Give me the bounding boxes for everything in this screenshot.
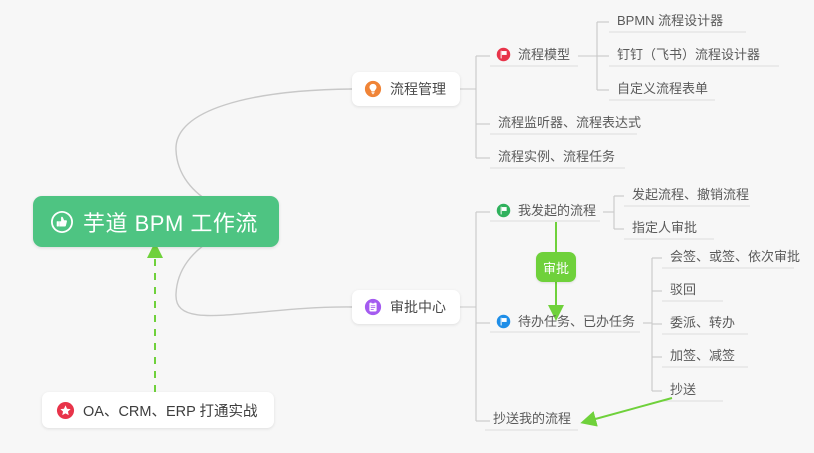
thumbs-up-icon [50,210,74,234]
node-my-started-process[interactable]: 我发起的流程 [490,202,604,224]
flag-icon [496,203,511,218]
branch-label-approval-center: 审批中心 [390,297,446,317]
node-label-my-started-process: 我发起的流程 [518,202,596,219]
node-label-bpmn-designer: BPMN 流程设计器 [617,12,723,29]
clipboard-icon [364,298,382,316]
node-process-listener-expression[interactable]: 流程监听器、流程表达式 [490,114,649,136]
node-label-todo-done-task: 待办任务、已办任务 [518,313,635,330]
node-label-countersign-orsign-sequential: 会签、或签、依次审批 [670,248,800,265]
node-add-remove-sign[interactable]: 加签、减签 [662,347,743,369]
node-label-add-remove-sign: 加签、减签 [670,347,735,364]
node-label-assignee-approval: 指定人审批 [632,219,697,236]
node-cc-to-me-process[interactable]: 抄送我的流程 [485,410,579,432]
node-countersign-orsign-sequential[interactable]: 会签、或签、依次审批 [662,248,808,270]
node-cc[interactable]: 抄送 [662,381,704,403]
node-process-model[interactable]: 流程模型 [490,46,578,68]
branch-node-process-mgmt[interactable]: 流程管理 [352,72,460,106]
node-bpmn-designer[interactable]: BPMN 流程设计器 [609,12,731,34]
node-label-cc-to-me-process: 抄送我的流程 [493,410,571,427]
flag-icon [496,314,511,329]
root-label: 芋道 BPM 工作流 [83,206,258,238]
flag-icon [496,47,511,62]
approve-annotation-label: 审批 [543,258,569,277]
node-label-custom-process-form: 自定义流程表单 [617,80,708,97]
branch-label-process-mgmt: 流程管理 [390,79,446,99]
node-label-dingtalk-feishu-designer: 钉钉（飞书）流程设计器 [617,46,760,63]
star-icon [56,401,75,420]
node-custom-process-form[interactable]: 自定义流程表单 [609,80,716,102]
node-reject[interactable]: 驳回 [662,281,704,303]
node-label-reject: 驳回 [670,281,696,298]
branch-node-approval-center[interactable]: 审批中心 [352,290,460,324]
node-label-process-model: 流程模型 [518,46,570,63]
node-delegate-transfer[interactable]: 委派、转办 [662,314,743,336]
arrow-cc-to-me [588,398,672,421]
node-label-oa-crm-erp: OA、CRM、ERP 打通实战 [83,400,258,421]
mindmap-canvas: 芋道 BPM 工作流 流程管理 审批中心 [0,0,814,453]
node-process-instance-task[interactable]: 流程实例、流程任务 [490,148,623,170]
node-dingtalk-feishu-designer[interactable]: 钉钉（飞书）流程设计器 [609,46,768,68]
node-label-process-listener-expression: 流程监听器、流程表达式 [498,114,641,131]
approve-annotation-pill[interactable]: 审批 [536,252,576,282]
node-label-cc: 抄送 [670,381,696,398]
node-label-process-instance-task: 流程实例、流程任务 [498,148,615,165]
lightbulb-icon [364,80,382,98]
node-todo-done-task[interactable]: 待办任务、已办任务 [490,313,643,335]
node-assignee-approval[interactable]: 指定人审批 [624,219,705,241]
root-node[interactable]: 芋道 BPM 工作流 [33,196,279,247]
node-label-delegate-transfer: 委派、转办 [670,314,735,331]
node-start-cancel-process[interactable]: 发起流程、撤销流程 [624,186,757,208]
node-label-start-cancel-process: 发起流程、撤销流程 [632,186,749,203]
node-oa-crm-erp[interactable]: OA、CRM、ERP 打通实战 [42,392,274,428]
